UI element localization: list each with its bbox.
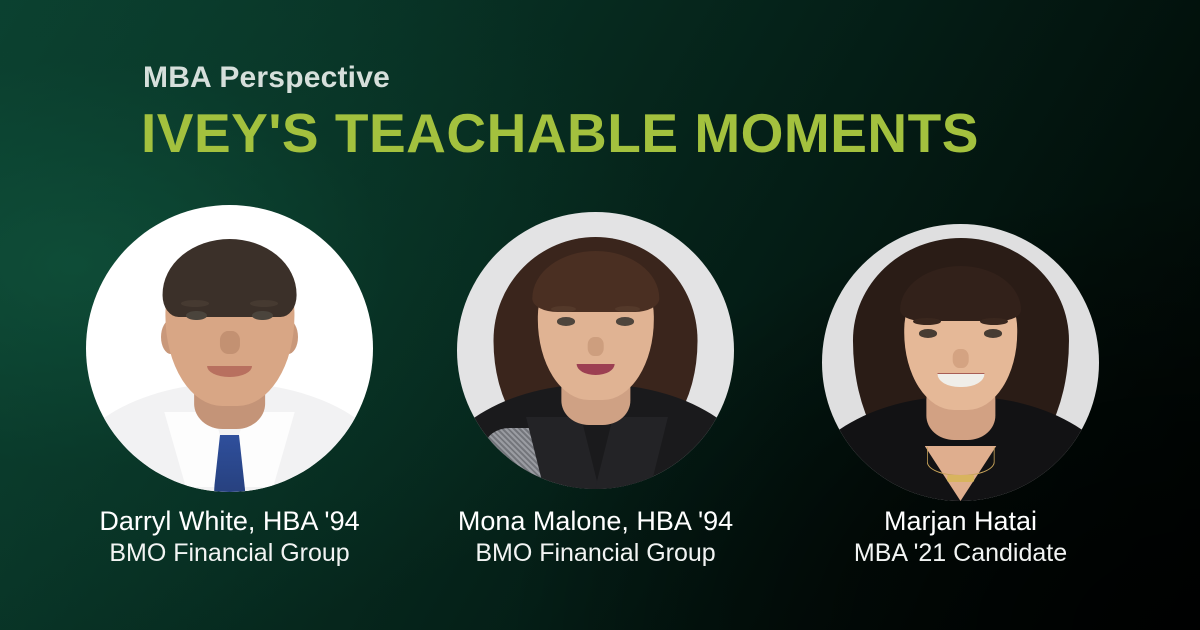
necklace-chain: [926, 447, 994, 476]
eye-right: [984, 329, 1002, 337]
nose-shape: [952, 349, 969, 368]
eye-left: [919, 329, 937, 337]
eye-left: [557, 317, 575, 325]
avatar: [822, 224, 1099, 501]
eye-right: [616, 317, 634, 325]
person-org: BMO Financial Group: [457, 538, 734, 569]
person-name: Darryl White, HBA '94: [86, 505, 373, 538]
eyebrow-left: [181, 300, 210, 307]
nose-shape: [219, 331, 239, 354]
promo-banner: MBA Perspective IVEY'S TEACHABLE MOMENTS: [0, 0, 1200, 630]
person-caption-1: Darryl White, HBA '94 BMO Financial Grou…: [86, 505, 373, 568]
eyebrow-label: MBA Perspective: [143, 61, 390, 94]
person-name: Marjan Hatai: [822, 505, 1099, 538]
avatar: [457, 212, 734, 489]
person-org: MBA '21 Candidate: [822, 538, 1099, 569]
person-card-3: [822, 224, 1099, 501]
banner-content: MBA Perspective IVEY'S TEACHABLE MOMENTS: [0, 0, 1200, 630]
person-org: BMO Financial Group: [86, 538, 373, 569]
eyebrow-right: [250, 300, 279, 307]
person-name: Mona Malone, HBA '94: [457, 505, 734, 538]
page-title: IVEY'S TEACHABLE MOMENTS: [141, 103, 979, 165]
nose-shape: [587, 337, 604, 356]
person-card-1: [86, 205, 373, 492]
person-caption-2: Mona Malone, HBA '94 BMO Financial Group: [457, 505, 734, 568]
avatar: [86, 205, 373, 492]
necklace-pendant: [947, 475, 975, 482]
person-caption-3: Marjan Hatai MBA '21 Candidate: [822, 505, 1099, 568]
person-card-2: [457, 212, 734, 489]
